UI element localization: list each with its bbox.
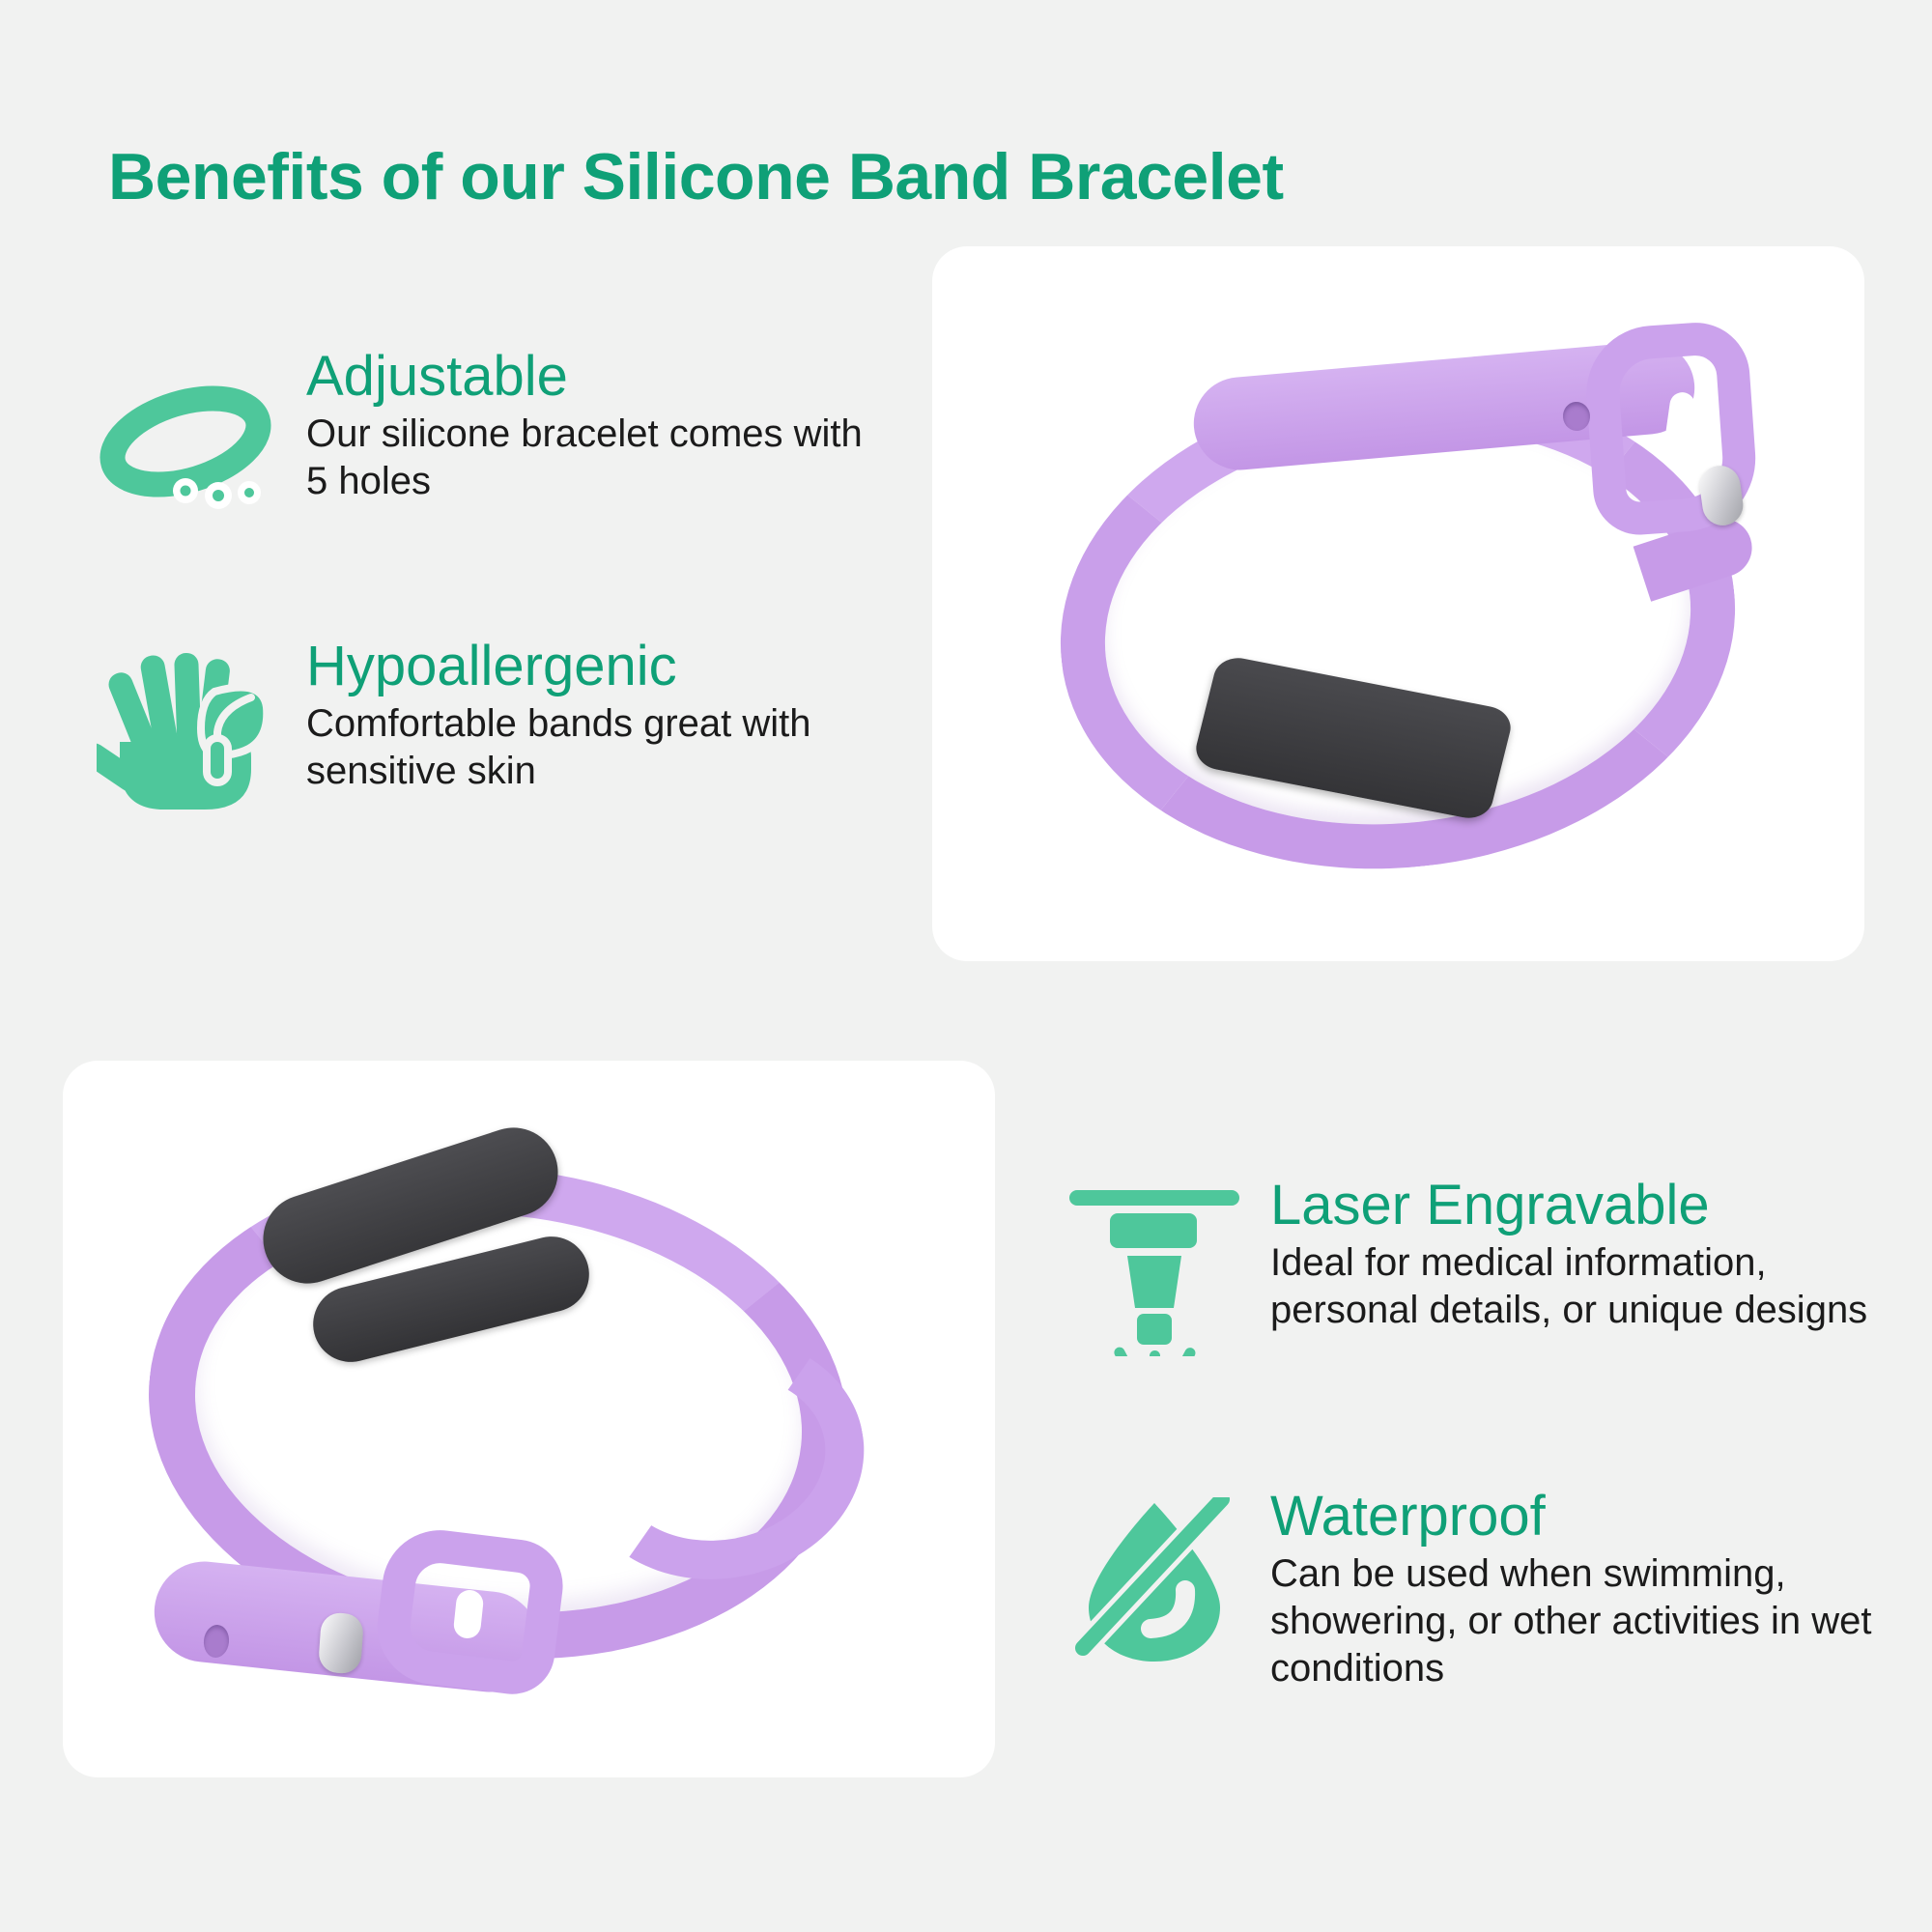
page-title: Benefits of our Silicone Band Bracelet [108, 139, 1284, 214]
bracelet-photo-top [932, 246, 1864, 961]
feature-heading-waterproof: Waterproof [1270, 1488, 1898, 1545]
bracelet-illustration-bottom [121, 1119, 932, 1718]
feature-heading-adjustable: Adjustable [306, 348, 889, 405]
metal-stud [318, 1612, 364, 1675]
feature-heading-laser-engravable: Laser Engravable [1270, 1177, 1889, 1234]
feature-text-waterproof: Waterproof Can be used when swimming, sh… [1270, 1488, 1898, 1692]
bracelet-photo-card-bottom [63, 1061, 995, 1777]
infographic-page: Benefits of our Silicone Band Bracelet A… [0, 0, 1932, 1932]
feature-body-laser-engravable: Ideal for medical information, personal … [1270, 1239, 1889, 1334]
feature-body-hypoallergenic: Comfortable bands great with sensitive s… [306, 700, 898, 795]
feature-text-adjustable: Adjustable Our silicone bracelet comes w… [306, 348, 889, 505]
bracelet-illustration-top [1048, 299, 1763, 908]
bracelet-photo-bottom [63, 1061, 995, 1777]
feature-waterproof: Waterproof Can be used when swimming, sh… [1067, 1488, 1898, 1692]
water-drop-slash-icon [1067, 1497, 1241, 1666]
feature-laser-engravable: Laser Engravable Ideal for medical infor… [1067, 1177, 1889, 1356]
feature-heading-hypoallergenic: Hypoallergenic [306, 638, 898, 695]
feature-body-waterproof: Can be used when swimming, showering, or… [1270, 1550, 1898, 1691]
feature-text-laser-engravable: Laser Engravable Ideal for medical infor… [1270, 1177, 1889, 1334]
hand-leaf-icon [97, 649, 275, 818]
feature-text-hypoallergenic: Hypoallergenic Comfortable bands great w… [306, 638, 898, 795]
feature-body-adjustable: Our silicone bracelet comes with 5 holes [306, 411, 889, 505]
bracelet-holes-icon [97, 369, 275, 514]
laser-engraver-icon [1067, 1184, 1241, 1356]
feature-adjustable: Adjustable Our silicone bracelet comes w… [97, 348, 889, 514]
feature-hypoallergenic: Hypoallergenic Comfortable bands great w… [97, 638, 898, 818]
bracelet-photo-card-top [932, 246, 1864, 961]
